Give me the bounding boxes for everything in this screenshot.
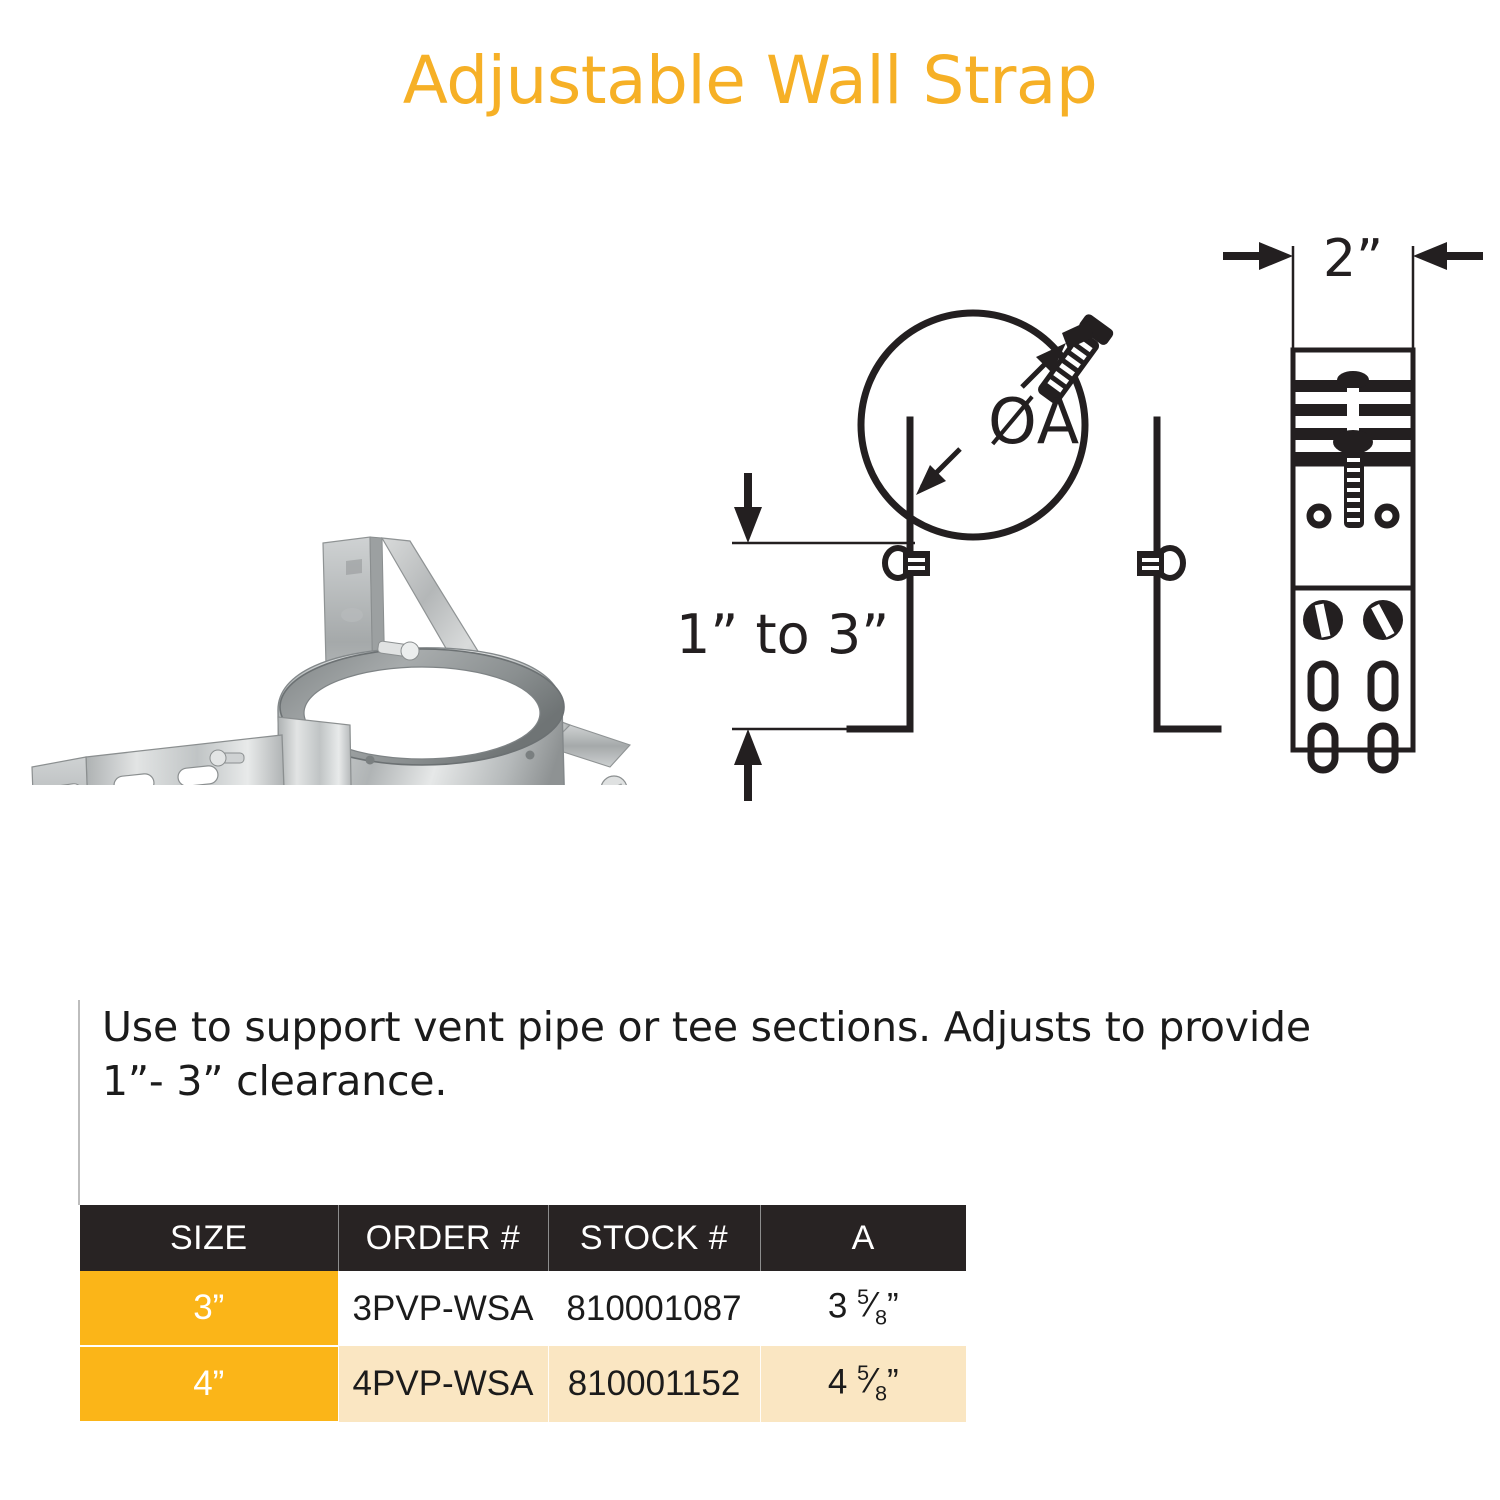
cell-a-fraction: 5⁄8 bbox=[857, 1360, 887, 1407]
width-label: 2” bbox=[1323, 229, 1383, 289]
side-view-svg: 2” bbox=[1205, 228, 1500, 788]
right-flange-bolt bbox=[601, 776, 627, 785]
header-a: A bbox=[760, 1205, 966, 1271]
cell-a-whole: 4 bbox=[828, 1362, 847, 1401]
table-header-row: SIZE ORDER # STOCK # A bbox=[80, 1205, 966, 1271]
front-strap-plate bbox=[278, 717, 354, 785]
cell-a-fraction: 5⁄8 bbox=[857, 1284, 887, 1331]
cell-size: 3” bbox=[80, 1271, 338, 1346]
slotted-screw-heads bbox=[1303, 600, 1403, 640]
cell-a-unit: ” bbox=[887, 1362, 899, 1401]
table-row: 4” 4PVP-WSA 810001152 4 5⁄8” bbox=[80, 1346, 966, 1422]
side-view-diagram: 2” bbox=[1205, 228, 1500, 788]
front-view-diagram: ØA 1” to 3” bbox=[670, 225, 1250, 815]
header-order: ORDER # bbox=[338, 1205, 548, 1271]
oval-slots bbox=[1311, 664, 1395, 770]
cell-order: 3PVP-WSA bbox=[338, 1271, 548, 1346]
page-title: Adjustable Wall Strap bbox=[0, 42, 1500, 119]
cell-a-unit: ” bbox=[887, 1287, 899, 1326]
left-leg-bolt bbox=[885, 548, 930, 578]
cell-size: 4” bbox=[80, 1346, 338, 1422]
spec-table: SIZE ORDER # STOCK # A 3” 3PVP-WSA 81000… bbox=[80, 1205, 966, 1423]
product-photo bbox=[10, 255, 680, 785]
front-view-svg: ØA 1” to 3” bbox=[670, 225, 1250, 815]
cell-a-whole: 3 bbox=[828, 1287, 847, 1326]
width-dimension: 2” bbox=[1223, 229, 1483, 350]
cell-stock: 810001152 bbox=[548, 1346, 760, 1422]
header-size: SIZE bbox=[80, 1205, 338, 1271]
table-row: 3” 3PVP-WSA 810001087 3 5⁄8” bbox=[80, 1271, 966, 1346]
cell-stock: 810001087 bbox=[548, 1271, 760, 1346]
cell-a-denominator: 8 bbox=[875, 1380, 887, 1405]
product-photo-illustration bbox=[10, 255, 680, 785]
description-block: Use to support vent pipe or tee sections… bbox=[78, 1000, 1468, 1205]
cell-a: 3 5⁄8” bbox=[760, 1271, 966, 1346]
description-line-2: 1”- 3” clearance. bbox=[102, 1054, 1468, 1108]
cell-a: 4 5⁄8” bbox=[760, 1346, 966, 1422]
description-line-1: Use to support vent pipe or tee sections… bbox=[102, 1000, 1468, 1054]
cell-a-numerator: 5 bbox=[857, 1360, 869, 1385]
description-text: Use to support vent pipe or tee sections… bbox=[102, 1000, 1468, 1108]
worm-screw bbox=[1333, 371, 1373, 528]
cell-a-denominator: 8 bbox=[875, 1305, 887, 1330]
right-leg-bolt bbox=[1137, 548, 1183, 578]
diameter-label: ØA bbox=[988, 385, 1079, 458]
lower-adjustable-arm bbox=[32, 735, 288, 785]
cell-a-numerator: 5 bbox=[857, 1284, 869, 1309]
clearance-label: 1” to 3” bbox=[676, 603, 889, 666]
cell-order: 4PVP-WSA bbox=[338, 1346, 548, 1422]
header-stock: STOCK # bbox=[548, 1205, 760, 1271]
